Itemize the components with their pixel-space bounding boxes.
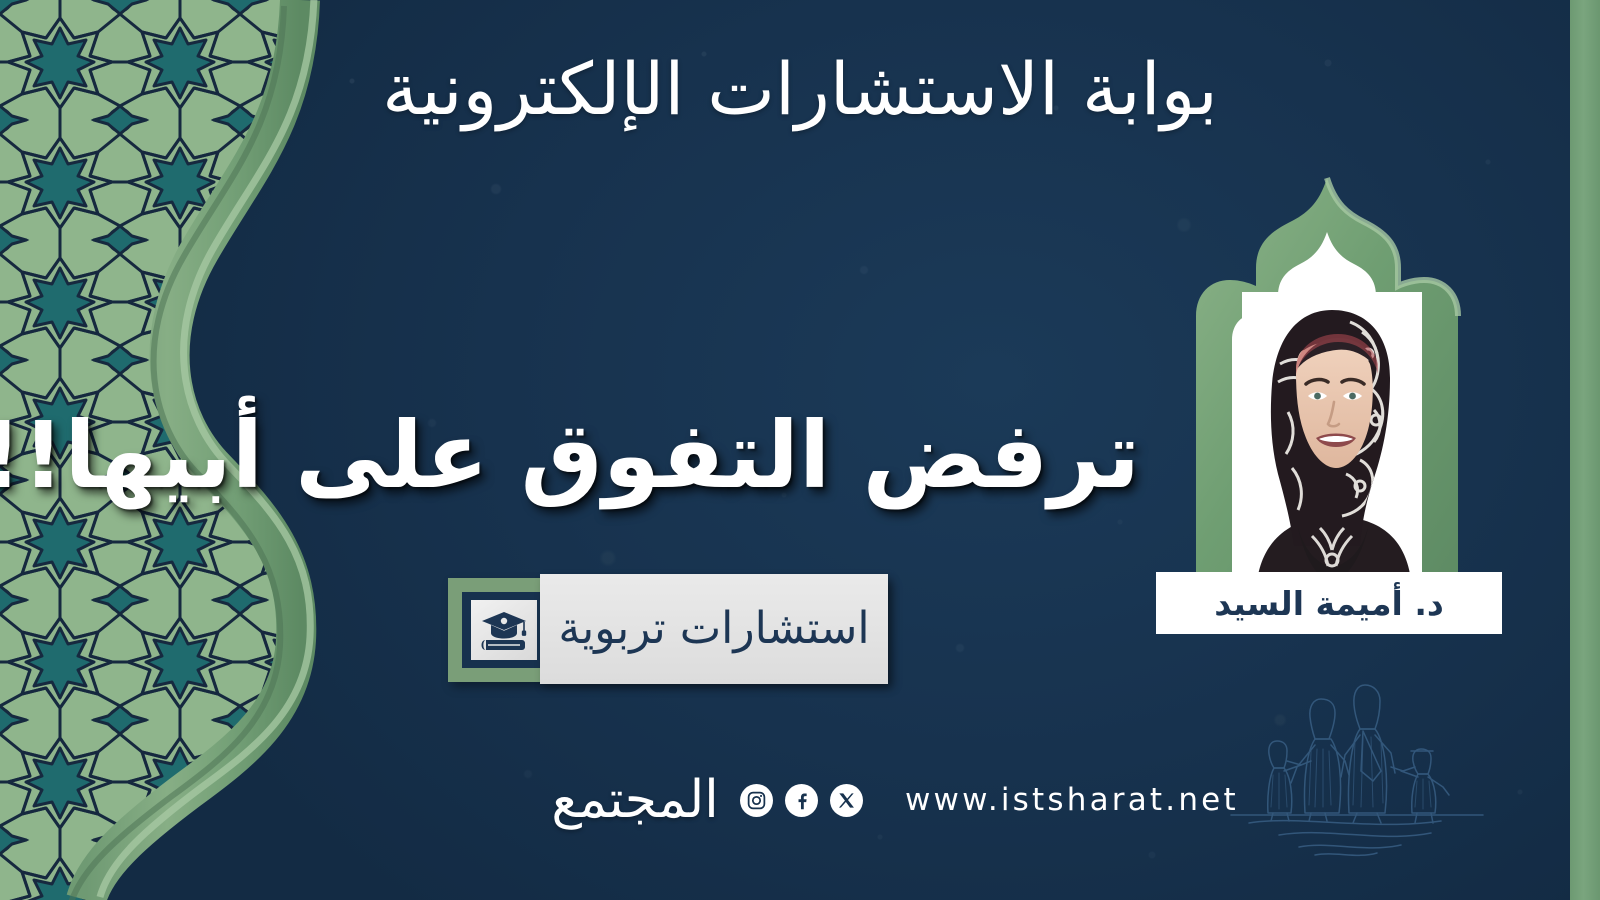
header-calligraphy-title: بوابة الاستشارات الإلكترونية bbox=[0, 44, 1600, 134]
badge-label-text: استشارات تربوية bbox=[558, 600, 869, 657]
instagram-icon[interactable] bbox=[740, 784, 773, 817]
speaker-name-plate: د. أميمة السيد bbox=[1156, 572, 1502, 634]
badge-label-plate: استشارات تربوية bbox=[540, 574, 888, 684]
right-edge-strip bbox=[1570, 0, 1600, 900]
family-illustration bbox=[1225, 655, 1515, 870]
x-twitter-icon[interactable] bbox=[830, 784, 863, 817]
banner-canvas: بوابة الاستشارات الإلكترونية ترفض التفوق… bbox=[0, 0, 1600, 900]
graduation-cap-book-icon bbox=[471, 600, 537, 660]
category-badge[interactable]: استشارات تربوية bbox=[448, 574, 888, 686]
page-title: ترفض التفوق على أبيها!! bbox=[150, 400, 1140, 512]
speaker-name-text: د. أميمة السيد bbox=[1214, 584, 1444, 623]
website-url[interactable]: www.istsharat.net bbox=[905, 782, 1239, 818]
social-links bbox=[740, 784, 863, 817]
speaker-portrait-photo bbox=[1242, 292, 1422, 592]
speaker-card: د. أميمة السيد bbox=[1152, 170, 1502, 635]
facebook-icon[interactable] bbox=[785, 784, 818, 817]
footer-bar: المجتمع www.istsharat.net bbox=[560, 756, 1239, 844]
badge-icon-box bbox=[462, 592, 546, 668]
brand-logo[interactable]: المجتمع bbox=[560, 760, 710, 840]
